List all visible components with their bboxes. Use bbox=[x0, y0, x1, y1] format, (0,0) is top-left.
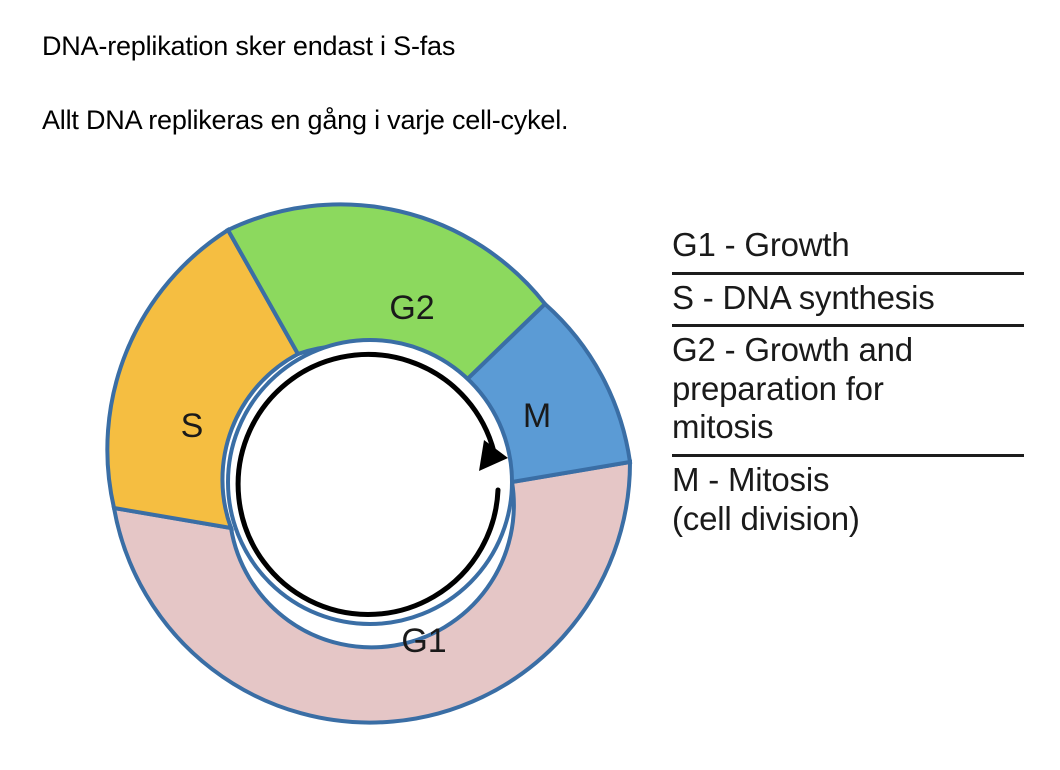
legend-item-g2-line-3: mitosis bbox=[672, 408, 1024, 447]
segment-label-g1: G1 bbox=[401, 622, 446, 660]
legend-item-g2-line-2: preparation for bbox=[672, 370, 1024, 409]
legend-item-g1[interactable]: G1 - Growth bbox=[672, 222, 1024, 272]
legend-item-m[interactable]: M - Mitosis (cell division) bbox=[672, 454, 1024, 545]
legend-item-g2[interactable]: G2 - Growth and preparation for mitosis bbox=[672, 324, 1024, 454]
cell-cycle-donut-diagram: G2 M G1 S bbox=[0, 190, 660, 770]
legend-item-g2-line-1: G2 - Growth and bbox=[672, 331, 1024, 370]
slide-canvas: DNA-replikation sker endast i S-fas Allt… bbox=[0, 0, 1060, 770]
legend-item-s[interactable]: S - DNA synthesis bbox=[672, 272, 1024, 325]
donut-chart-svg: G2 M G1 S bbox=[0, 190, 660, 770]
legend-item-s-line-1: S - DNA synthesis bbox=[672, 279, 1024, 318]
heading-line-1: DNA-replikation sker endast i S-fas bbox=[42, 32, 802, 60]
heading-line-2: Allt DNA replikeras en gång i varje cell… bbox=[42, 106, 802, 134]
segment-label-g2: G2 bbox=[389, 289, 434, 327]
legend-item-m-line-2: (cell division) bbox=[672, 500, 1024, 539]
donut-hole bbox=[228, 340, 512, 624]
phase-legend: G1 - Growth S - DNA synthesis G2 - Growt… bbox=[672, 222, 1024, 545]
segment-label-m: M bbox=[523, 397, 551, 435]
heading-block: DNA-replikation sker endast i S-fas Allt… bbox=[42, 32, 802, 135]
segment-label-s: S bbox=[181, 407, 204, 445]
legend-item-g1-line-1: G1 - Growth bbox=[672, 226, 1024, 265]
legend-item-m-line-1: M - Mitosis bbox=[672, 461, 1024, 500]
